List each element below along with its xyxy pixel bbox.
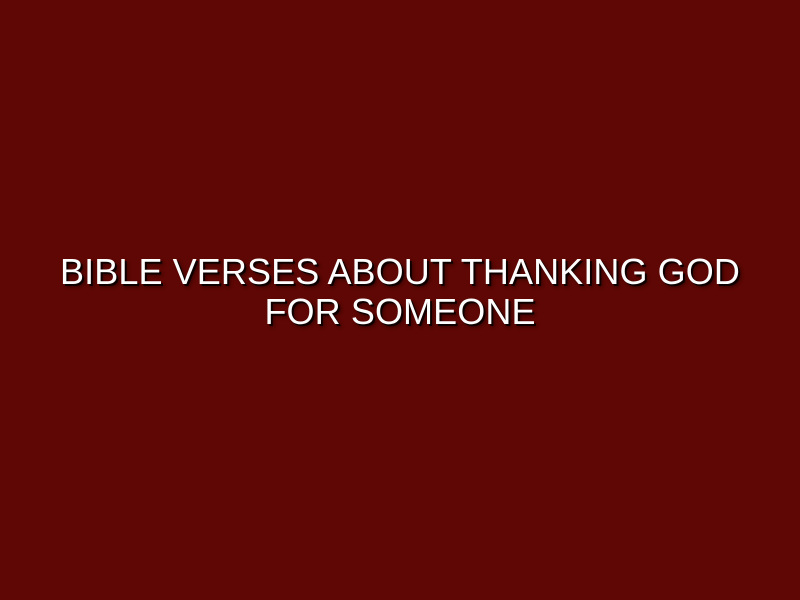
- title-block: BIBLE VERSES ABOUT THANKING GOD FOR SOME…: [0, 252, 800, 332]
- page-title: BIBLE VERSES ABOUT THANKING GOD FOR SOME…: [40, 252, 760, 332]
- featured-image-card: BIBLE VERSES ABOUT THANKING GOD FOR SOME…: [0, 0, 800, 600]
